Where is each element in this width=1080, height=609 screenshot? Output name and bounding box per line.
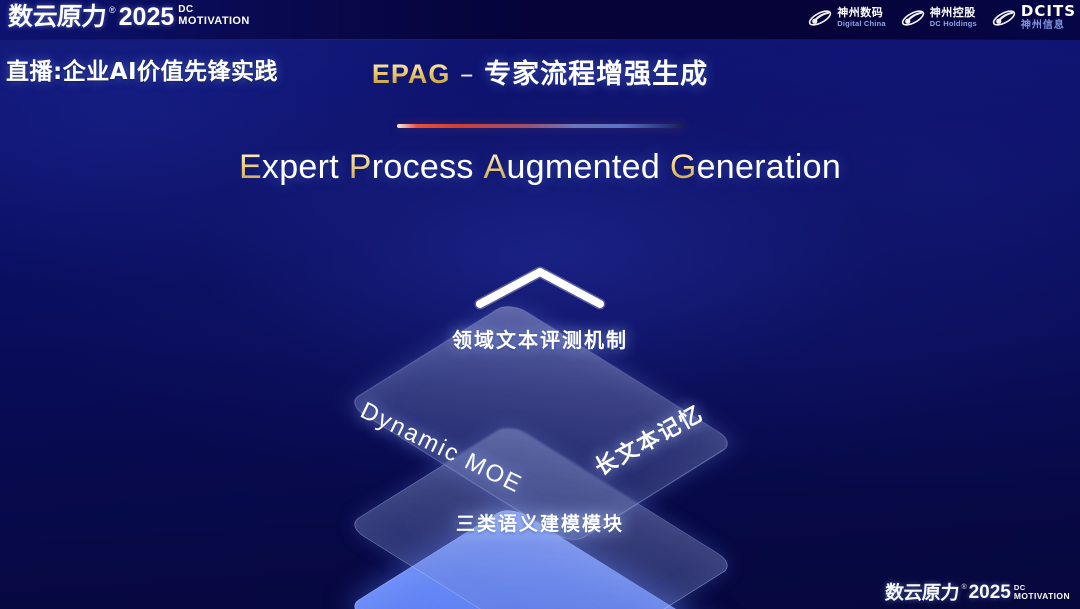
gradient-divider	[397, 124, 685, 128]
presentation-slide: 数云原力 ® 2025 DC MOTIVATION 直播:企业AI价值先锋实践 …	[0, 0, 1080, 609]
partner-name-en: DC Holdings	[930, 20, 977, 28]
stack-layer-top: 领域文本评测机制	[280, 224, 800, 484]
partner-text: 神州数码 Digital China	[837, 7, 885, 28]
partner-name-cn: DCITS	[1021, 4, 1076, 19]
watermark-name-cn: 数云原力	[885, 583, 960, 603]
brand-registered-mark: ®	[109, 4, 116, 16]
subtitle-word-process: rocess	[372, 148, 474, 186]
brand-logo: 数云原力 ® 2025 DC MOTIVATION	[8, 4, 250, 30]
subtitle-cap-g: G	[670, 148, 697, 186]
brand-dc-line1: DC	[178, 5, 249, 15]
partner-logo-group: 神州数码 Digital China 神州控股 DC Holdings	[807, 4, 1076, 31]
brand-dc-line2: MOTIVATION	[178, 15, 249, 27]
partner-logo-dcits: DCITS 神州信息	[991, 4, 1076, 31]
headline-chinese: 专家流程增强生成	[484, 59, 708, 90]
partner-text: DCITS 神州信息	[1021, 4, 1076, 31]
swirl-logo-icon	[991, 6, 1017, 30]
subtitle-word-augmented: ugmented	[506, 148, 660, 186]
layer-label-top: 领域文本评测机制	[280, 324, 800, 353]
headline-dash: –	[460, 59, 475, 90]
layer-label-bottom: 三类语义建模模块	[280, 509, 800, 536]
watermark-registered-mark: ®	[961, 583, 966, 592]
subtitle-cap-e: E	[239, 148, 262, 186]
layered-stack-diagram: 领域文本评测机制 Dynamic MOE 长文本记忆 三类语义建模模块	[280, 224, 800, 564]
subtitle-word-generation: eneration	[697, 148, 841, 186]
partner-logo-digital-china: 神州数码 Digital China	[807, 6, 885, 30]
subtitle-cap-a: A	[483, 148, 506, 186]
watermark-dc-motivation: DC MOTIVATION	[1014, 584, 1070, 601]
swirl-logo-icon	[807, 6, 833, 30]
brand-name-cn: 数云原力	[7, 4, 106, 30]
partner-text: 神州控股 DC Holdings	[930, 7, 977, 28]
live-session-label: 直播:企业AI价值先锋实践	[6, 52, 278, 86]
headline-acronym: EPAG	[372, 59, 451, 89]
partner-logo-dc-holdings: 神州控股 DC Holdings	[900, 6, 977, 30]
watermark-year: 2025	[969, 583, 1011, 603]
subtitle-cap-p: P	[349, 148, 372, 186]
watermark-dc-line2: MOTIVATION	[1014, 592, 1070, 601]
partner-name-en: 神州信息	[1021, 21, 1076, 31]
partner-name-cn: 神州数码	[837, 7, 885, 18]
brand-watermark: 数云原力 ® 2025 DC MOTIVATION	[885, 583, 1070, 603]
brand-dc-motivation: DC MOTIVATION	[178, 5, 249, 27]
brand-year: 2025	[119, 4, 175, 30]
partner-name-en: Digital China	[837, 20, 885, 28]
chevron-up-icon	[472, 264, 608, 310]
swirl-logo-icon	[900, 6, 926, 30]
slide-subtitle: Expert Process Augmented Generation	[0, 148, 1080, 187]
partner-name-cn: 神州控股	[930, 7, 977, 18]
subtitle-word-expert: xpert	[262, 148, 339, 186]
